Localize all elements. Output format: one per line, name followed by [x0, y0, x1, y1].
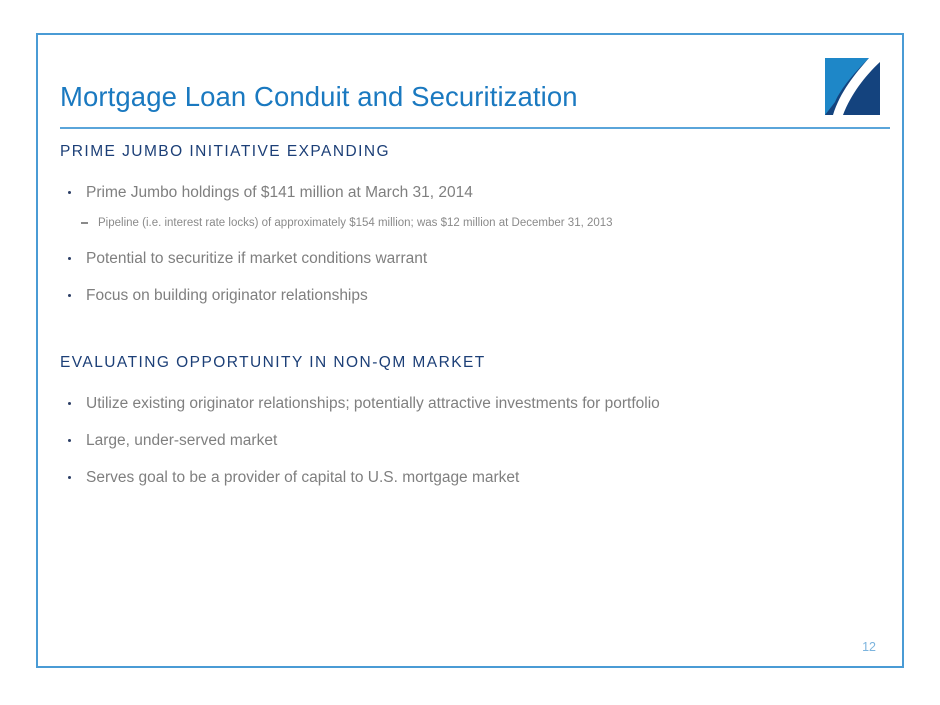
- section-non-qm: EVALUATING OPPORTUNITY IN NON-QM MARKET …: [60, 354, 882, 488]
- spacer: [60, 372, 882, 376]
- bullet-dot-icon: [68, 476, 71, 479]
- list-item: Utilize existing originator relationship…: [60, 394, 882, 413]
- list-item: Large, under-served market: [60, 431, 882, 450]
- bullet-dot-icon: [68, 257, 71, 260]
- spacer: [60, 161, 882, 165]
- list-item-text: Prime Jumbo holdings of $141 million at …: [86, 184, 473, 201]
- sub-list-item: Pipeline (i.e. interest rate locks) of a…: [60, 216, 882, 230]
- list-item-text: Potential to securitize if market condit…: [86, 250, 427, 267]
- list-item: Serves goal to be a provider of capital …: [60, 468, 882, 487]
- list-item: Focus on building originator relationshi…: [60, 286, 882, 305]
- list-item: Potential to securitize if market condit…: [60, 249, 882, 268]
- sub-list-item-text: Pipeline (i.e. interest rate locks) of a…: [98, 217, 613, 229]
- title-divider: [60, 127, 890, 129]
- list-item-text: Utilize existing originator relationship…: [86, 395, 660, 412]
- slide-frame: Mortgage Loan Conduit and Securitization…: [36, 33, 904, 668]
- page-number: 12: [862, 640, 876, 654]
- bullet-list: Utilize existing originator relationship…: [60, 394, 882, 488]
- company-logo-icon: [825, 58, 880, 115]
- list-item: Prime Jumbo holdings of $141 million at …: [60, 183, 882, 202]
- bullet-dot-icon: [68, 294, 71, 297]
- section-spacer: [60, 306, 882, 354]
- page-title: Mortgage Loan Conduit and Securitization: [60, 81, 578, 113]
- dash-icon: [81, 222, 88, 224]
- bullet-dot-icon: [68, 402, 71, 405]
- bullet-dot-icon: [68, 191, 71, 194]
- list-item-text: Focus on building originator relationshi…: [86, 287, 368, 304]
- section-prime-jumbo: PRIME JUMBO INITIATIVE EXPANDING Prime J…: [60, 143, 882, 306]
- list-item-text: Large, under-served market: [86, 432, 277, 449]
- section-heading: PRIME JUMBO INITIATIVE EXPANDING: [60, 143, 882, 161]
- bullet-dot-icon: [68, 439, 71, 442]
- slide-body: PRIME JUMBO INITIATIVE EXPANDING Prime J…: [60, 143, 882, 488]
- list-item-text: Serves goal to be a provider of capital …: [86, 469, 519, 486]
- bullet-list: Prime Jumbo holdings of $141 million at …: [60, 183, 882, 306]
- section-heading: EVALUATING OPPORTUNITY IN NON-QM MARKET: [60, 354, 882, 372]
